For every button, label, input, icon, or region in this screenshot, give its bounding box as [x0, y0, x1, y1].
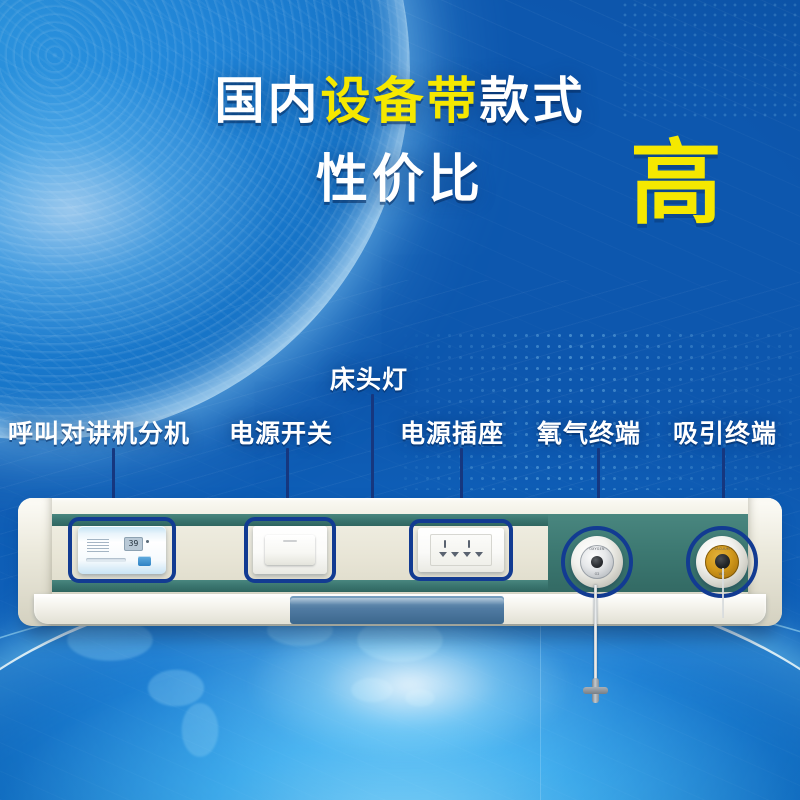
callout-label-intercom: 呼叫对讲机分机 — [8, 414, 190, 450]
pull-cord[interactable] — [594, 585, 597, 685]
headline-line-1: 国内设备带款式 — [0, 76, 800, 126]
headline-line-2-row: 性价比 高 — [0, 154, 800, 232]
callout-label-suction-terminal: 吸引终端 — [673, 414, 777, 450]
highlight-circle-oxygen — [561, 526, 633, 598]
highlight-box-intercom — [68, 517, 176, 583]
callout-label-power-switch: 电源开关 — [229, 414, 333, 450]
headline-line-1-prefix: 国内 — [215, 72, 321, 130]
headline-block: 国内设备带款式 性价比 高 — [0, 76, 800, 232]
poster-canvas: 国内设备带款式 性价比 高 呼叫对讲机分机 电源开关 床头灯 电源插座 氧气终端… — [0, 0, 800, 800]
cord-fitting-horizontal — [583, 687, 608, 694]
highlight-box-power-switch — [244, 517, 336, 583]
panel-rail-tinted-section — [290, 596, 504, 624]
headline-line-1-highlight: 设备带 — [321, 72, 480, 130]
callout-label-bedside-lamp: 床头灯 — [330, 360, 408, 396]
pull-cord-secondary — [722, 568, 724, 618]
headline-line-1-suffix: 款式 — [480, 72, 586, 130]
callout-label-power-socket: 电源插座 — [400, 414, 504, 450]
callout-label-oxygen-terminal: 氧气终端 — [537, 414, 641, 450]
headline-emphasis-char: 高 — [630, 138, 722, 230]
highlight-box-power-socket — [409, 519, 513, 581]
pull-cord-fitting — [583, 678, 608, 703]
